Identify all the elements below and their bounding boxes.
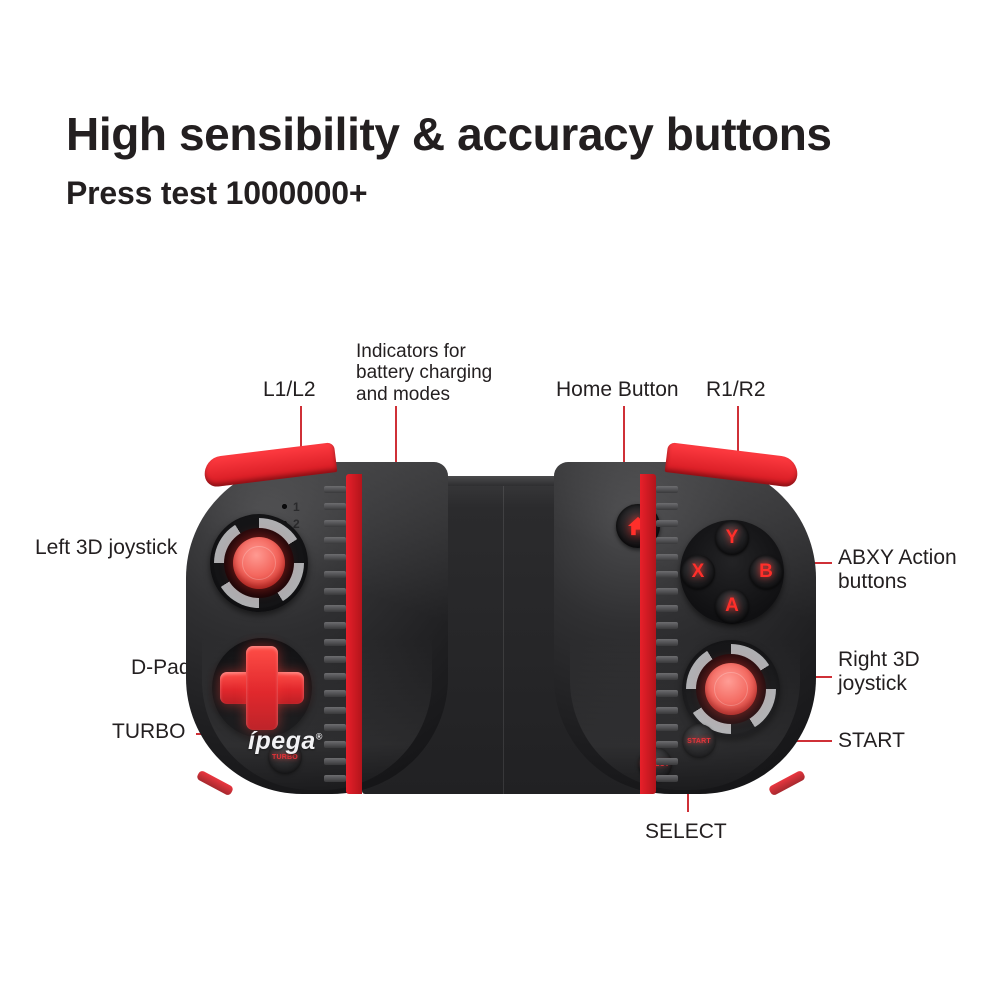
gamepad-illustration: 1 2 3 4 (186, 452, 816, 804)
callout-label-start: START (838, 729, 905, 753)
led-indicator-dot (282, 504, 287, 509)
right-grip-body: Y X B A SELECT START (554, 462, 816, 794)
abxy-action-buttons[interactable]: Y X B A (680, 520, 784, 624)
callout-label-indicators: Indicators for battery charging and mode… (356, 341, 492, 405)
callout-label-l1-l2: L1/L2 (263, 378, 316, 402)
callout-label-home-button: Home Button (556, 378, 679, 402)
right-red-rail (640, 474, 656, 794)
page-title: High sensibility & accuracy buttons (66, 110, 832, 158)
left-bottom-red-lip (196, 770, 234, 797)
callout-label-right-joystick: Right 3D joystick (838, 648, 920, 695)
led-indicator-label: 2 (293, 518, 300, 530)
dpad[interactable] (212, 638, 312, 738)
brand-logo-text: ípega (248, 727, 316, 755)
right-bottom-red-lip (768, 770, 806, 797)
button-b[interactable]: B (749, 555, 783, 589)
left-grip-body: 1 2 3 4 (186, 462, 448, 794)
right-ratchet-teeth (656, 486, 678, 782)
callout-label-abxy: ABXY Action buttons (838, 546, 957, 593)
diagram-canvas: High sensibility & accuracy buttons Pres… (0, 0, 1000, 1000)
callout-label-r1-r2: R1/R2 (706, 378, 766, 402)
brand-logo: ípega® (248, 727, 323, 756)
left-red-rail (346, 474, 362, 794)
start-button[interactable]: START (682, 724, 716, 758)
button-a[interactable]: A (715, 589, 749, 623)
callout-label-turbo: TURBO (112, 720, 186, 744)
left-ratchet-teeth (324, 486, 346, 782)
dpad-vertical-arm[interactable] (246, 646, 278, 730)
page-subtitle: Press test 1000000+ (66, 176, 367, 211)
button-y[interactable]: Y (715, 521, 749, 555)
led-indicator-label: 1 (293, 501, 300, 513)
callout-label-left-joystick: Left 3D joystick (35, 536, 177, 560)
joystick-cap[interactable] (705, 663, 757, 715)
button-x[interactable]: X (681, 555, 715, 589)
callout-label-dpad: D-Pad (131, 656, 191, 680)
brand-trademark: ® (316, 732, 323, 742)
joystick-cap[interactable] (233, 537, 285, 589)
left-3d-joystick[interactable] (210, 514, 308, 612)
led-row: 1 (282, 498, 322, 515)
callout-label-select: SELECT (645, 820, 727, 844)
